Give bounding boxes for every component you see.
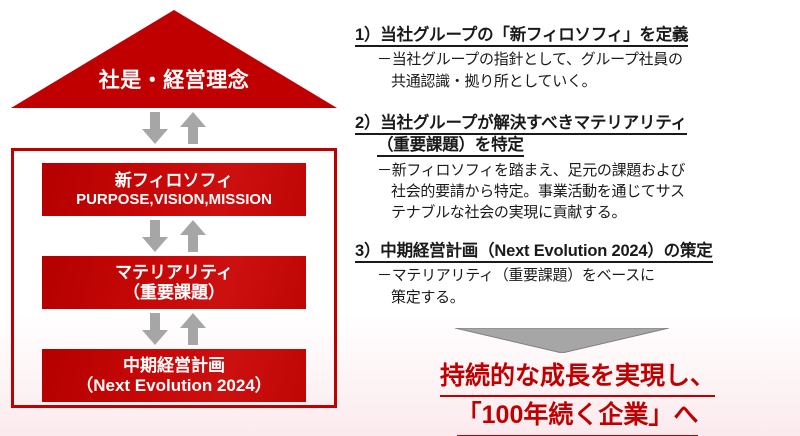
box-philosophy-line2: PURPOSE,VISION,MISSION <box>76 191 272 208</box>
arrow-down-icon <box>142 220 168 252</box>
list-item-2-body: －新フィロソフィを踏まえ、足元の課題および 社会的要請から特定。事業活動を通じて… <box>377 160 800 224</box>
arrow-pair-roof <box>125 112 223 144</box>
roof-label: 社是・経営理念 <box>11 70 337 91</box>
arrow-up-icon <box>180 220 206 252</box>
box-philosophy[interactable]: 新フィロソフィ PURPOSE,VISION,MISSION <box>42 163 306 216</box>
roof-triangle <box>11 10 337 108</box>
list-item-1-body-line2: 共通認識・拠り所としていく。 <box>391 71 800 92</box>
list-item-3-body-line1: －マテリアリティ（重要課題）をベースに <box>377 267 655 284</box>
list-item-1-heading-text: 当社グループの「新フィロソフィ」を定義 <box>380 26 688 44</box>
list-item-2-heading-text: 当社グループが解決すべきマテリアリティ <box>380 114 687 132</box>
list-item-2-body-line1: －新フィロソフィを踏まえ、足元の課題および <box>377 162 685 179</box>
list-item-2: 2）当社グループが解決すべきマテリアリティ （重要課題）を特定 －新フィロソフィ… <box>355 112 800 223</box>
list-item-2-body-line3: テナブルな社会の実現に貢献する。 <box>391 202 800 223</box>
list-item-1: 1）当社グループの「新フィロソフィ」を定義 －当社グループの指針として、グループ… <box>355 24 800 92</box>
list-item-2-heading: 2）当社グループが解決すべきマテリアリティ <box>355 112 800 134</box>
box-materiality-line1: マテリアリティ <box>115 263 233 283</box>
list-item-3-body-line2: 策定する。 <box>391 287 800 308</box>
arrow-pair-philosophy-materiality <box>125 220 223 252</box>
list-item-1-heading: 1）当社グループの「新フィロソフィ」を定義 <box>355 24 800 46</box>
conclusion-line2: 「100年続く企業」へ <box>457 397 699 436</box>
box-materiality-line2: （重要課題） <box>123 283 225 303</box>
list-item-2-heading2-text: （重要課題）を特定 <box>377 136 524 157</box>
list-item-3-heading-text: 中期経営計画（Next Evolution 2024）の策定 <box>380 242 712 260</box>
arrow-up-icon <box>180 112 206 144</box>
box-midterm-plan-line2: （Next Evolution 2024） <box>76 376 272 396</box>
list-item-1-number: 1） <box>355 26 380 44</box>
list-item-3-heading: 3）中期経営計画（Next Evolution 2024）の策定 <box>355 240 800 262</box>
list-item-2-heading-second-line: （重要課題）を特定 <box>377 134 800 156</box>
arrow-pair-materiality-midplan <box>125 313 223 345</box>
arrow-down-icon <box>142 313 168 345</box>
arrow-down-icon <box>142 112 168 144</box>
list-item-2-body-line2: 社会的要請から特定。事業活動を通じてサス <box>391 181 800 202</box>
box-philosophy-line1: 新フィロソフィ <box>115 171 233 191</box>
arrow-up-icon <box>180 313 206 345</box>
list-item-2-number: 2） <box>355 114 380 132</box>
box-materiality[interactable]: マテリアリティ （重要課題） <box>42 256 306 309</box>
box-midterm-plan[interactable]: 中期経営計画 （Next Evolution 2024） <box>42 349 306 402</box>
house-diagram: 社是・経営理念 新フィロソフィ PURPOSE,VISION,MISSION <box>0 0 350 436</box>
list-item-3-body: －マテリアリティ（重要課題）をベースに 策定する。 <box>377 265 800 308</box>
box-midterm-plan-line1: 中期経営計画 <box>123 356 225 376</box>
list-item-1-body-line1: －当社グループの指針として、グループ社員の <box>377 51 683 68</box>
list-item-3: 3）中期経営計画（Next Evolution 2024）の策定 －マテリアリテ… <box>355 240 800 308</box>
list-item-1-body: －当社グループの指針として、グループ社員の 共通認識・拠り所としていく。 <box>377 49 800 92</box>
arrow-down-wide-icon <box>455 328 669 353</box>
conclusion-line1: 持続的な成長を実現し、 <box>440 358 715 397</box>
conclusion-statement: 持続的な成長を実現し、 「100年続く企業」へ <box>355 358 800 436</box>
list-item-3-number: 3） <box>355 242 380 260</box>
slide-canvas: 社是・経営理念 新フィロソフィ PURPOSE,VISION,MISSION <box>0 0 800 436</box>
